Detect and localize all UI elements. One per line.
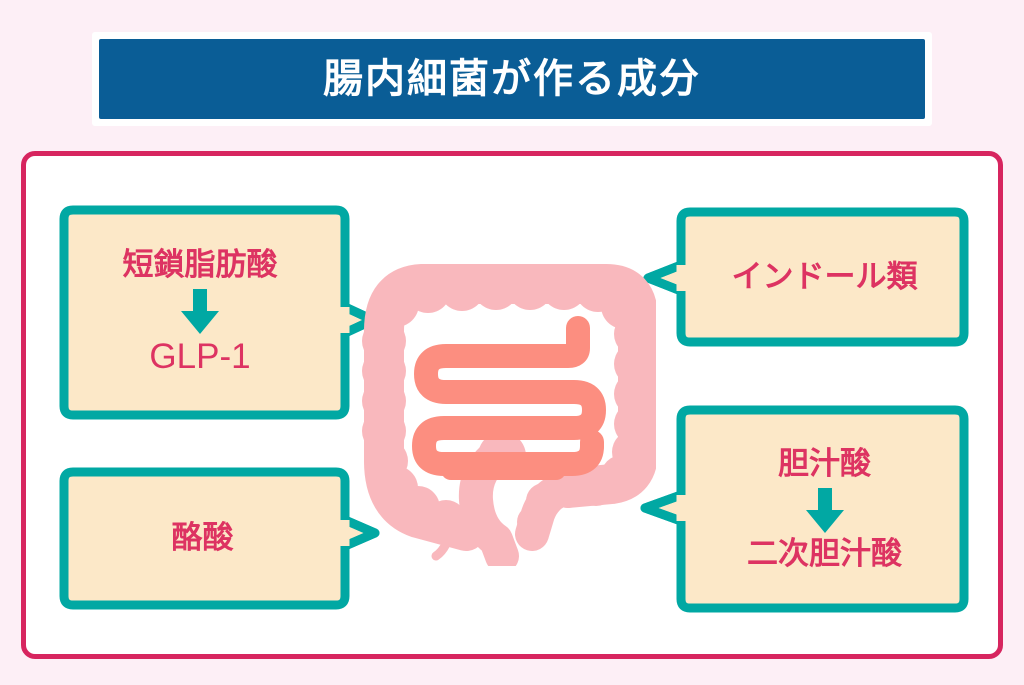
callout-bile-acids[interactable]: 胆汁酸 二次胆汁酸	[636, 405, 973, 613]
intestine-illustration	[356, 256, 656, 566]
callout-shape-left-pointer	[636, 405, 973, 613]
callout-indoles[interactable]: インドール類	[640, 207, 973, 347]
page-title: 腸内細菌が作る成分	[323, 59, 701, 99]
callout-shape-left-pointer	[640, 207, 973, 347]
title-banner: 腸内細菌が作る成分	[92, 32, 932, 126]
callout-shape-right-pointer	[55, 467, 380, 610]
callout-short-chain-fatty-acids[interactable]: 短鎖脂肪酸 GLP-1	[55, 205, 375, 420]
title-banner-fill: 腸内細菌が作る成分	[99, 39, 925, 119]
callout-shape-right-pointer	[55, 205, 375, 420]
callout-butyric-acid[interactable]: 酪酸	[55, 467, 380, 610]
